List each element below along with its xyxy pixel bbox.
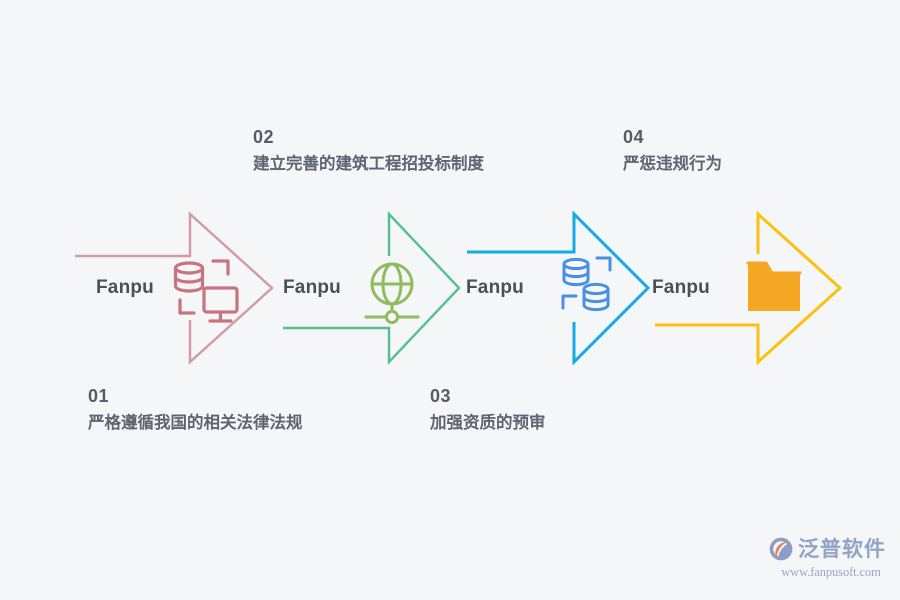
globe-network-icon <box>366 264 418 323</box>
caption-03[interactable]: 03 加强资质的预审 <box>430 385 546 434</box>
caption-text-02: 建立完善的建筑工程招投标制度 <box>253 153 484 175</box>
caption-number-02: 02 <box>253 126 484 149</box>
caption-number-04: 04 <box>623 126 722 149</box>
step-word-2: Fanpu <box>283 277 341 299</box>
step-word-4: Fanpu <box>652 277 710 299</box>
step-word-3: Fanpu <box>466 277 524 299</box>
fanpu-logo-icon <box>768 536 794 562</box>
folder-icon <box>748 263 800 311</box>
caption-number-03: 03 <box>430 385 546 408</box>
caption-text-04: 严惩违规行为 <box>623 153 722 175</box>
caption-04[interactable]: 04 严惩违规行为 <box>623 126 722 175</box>
database-stack-icon <box>563 258 610 310</box>
watermark-brand: 泛普软件 <box>798 539 886 560</box>
caption-text-01: 严格遵循我国的相关法律法规 <box>88 412 303 434</box>
caption-number-01: 01 <box>88 385 303 408</box>
process-flow-diagram <box>0 0 900 600</box>
infographic-canvas: Fanpu Fanpu Fanpu Fanpu 01 严格遵循我国的相关法律法规… <box>0 0 900 600</box>
watermark: 泛普软件 www.fanpusoft.com <box>768 536 894 588</box>
caption-02[interactable]: 02 建立完善的建筑工程招投标制度 <box>253 126 484 175</box>
step-word-1: Fanpu <box>96 277 154 299</box>
caption-01[interactable]: 01 严格遵循我国的相关法律法规 <box>88 385 303 434</box>
watermark-url: www.fanpusoft.com <box>768 565 894 580</box>
caption-text-03: 加强资质的预审 <box>430 412 546 434</box>
database-monitor-icon <box>176 261 238 321</box>
